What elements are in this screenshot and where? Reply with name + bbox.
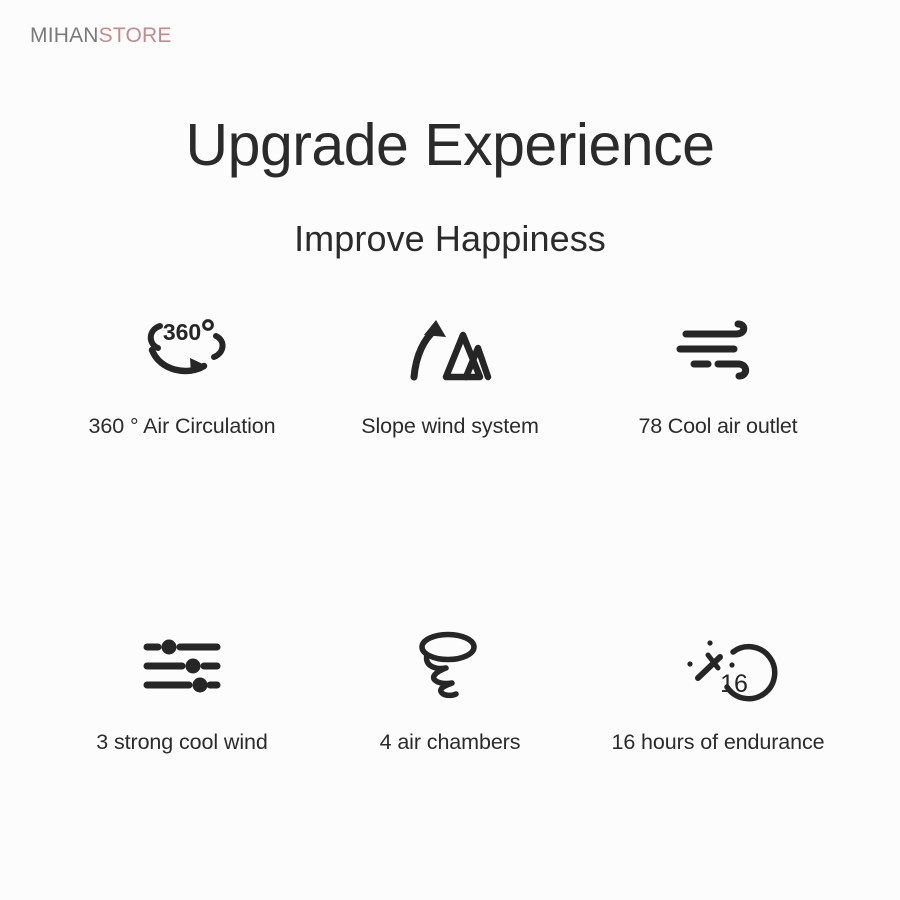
feature-label: 78 Cool air outlet xyxy=(639,414,798,439)
360-rotation-icon: 360 xyxy=(136,308,228,392)
brand-logo-secondary: STORE xyxy=(99,24,172,47)
wind-lines-icon xyxy=(678,308,758,392)
feature-item-slope-wind-system: Slope wind system xyxy=(316,308,584,439)
feature-label: Slope wind system xyxy=(361,414,539,439)
feature-item-air-chambers: 4 air chambers xyxy=(316,624,584,755)
feature-row-1: 360 360 ° Air Circulation xyxy=(48,308,852,439)
feature-label: 4 air chambers xyxy=(380,730,521,755)
feature-item-cool-air-outlet: 78 Cool air outlet xyxy=(584,308,852,439)
page-title: Upgrade Experience xyxy=(0,113,900,178)
feature-label: 16 hours of endurance xyxy=(611,730,824,755)
feature-item-360-air-circulation: 360 360 ° Air Circulation xyxy=(48,308,316,439)
clock-endurance-icon: 16 xyxy=(680,624,756,708)
feature-label: 3 strong cool wind xyxy=(96,730,268,755)
endurance-hours-value: 16 xyxy=(720,670,748,698)
air-vortex-icon xyxy=(414,624,486,708)
brand-logo-primary: MIHAN xyxy=(30,24,99,47)
slope-wind-mountain-icon xyxy=(408,308,492,392)
page-subtitle: Improve Happiness xyxy=(0,219,900,259)
brand-logo: MIHANSTORE xyxy=(30,24,172,48)
infographic-page: MIHANSTORE Upgrade Experience Improve Ha… xyxy=(0,0,900,900)
feature-label: 360 ° Air Circulation xyxy=(89,414,276,439)
feature-row-2: 3 strong cool wind 4 air chambers xyxy=(48,624,852,755)
slider-levels-icon xyxy=(144,624,220,708)
feature-grid: 360 360 ° Air Circulation xyxy=(48,308,852,755)
feature-item-endurance: 16 16 hours of endurance xyxy=(584,624,852,755)
svg-text:360: 360 xyxy=(163,319,201,345)
feature-item-strong-cool-wind: 3 strong cool wind xyxy=(48,624,316,755)
